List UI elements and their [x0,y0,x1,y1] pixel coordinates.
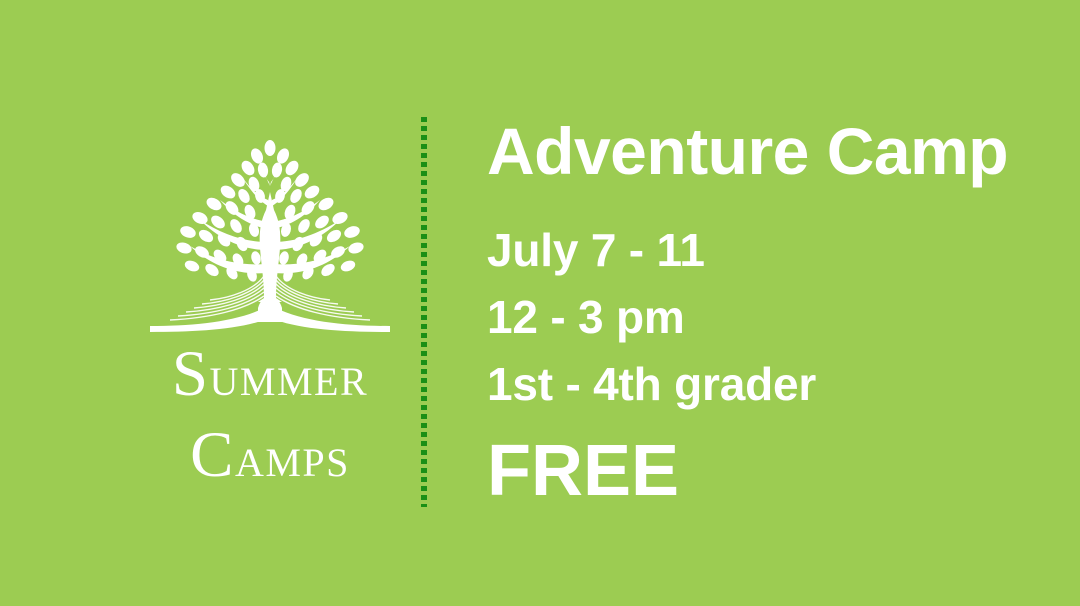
tree-on-book-icon [140,130,400,340]
event-grade-range: 1st - 4th grader [487,361,1047,407]
event-info-block: Adventure Camp July 7 - 11 12 - 3 pm 1st… [487,118,1047,507]
logo-camps-initial: C [190,419,235,491]
vertical-dotted-divider [421,117,427,507]
page-title: Adventure Camp [487,118,1047,184]
logo-word-camps: CAMPS [140,423,400,488]
logo-word-summer: SUMMER [140,342,400,407]
event-detail-list: July 7 - 11 12 - 3 pm 1st - 4th grader [487,227,1047,407]
event-price: FREE [487,435,1047,507]
summer-camp-poster: SUMMER CAMPS Adventure Camp July 7 - 11 … [0,0,1080,606]
logo-summer-initial: S [172,338,210,410]
logo-wordmark: SUMMER CAMPS [140,342,400,488]
event-dates: July 7 - 11 [487,227,1047,273]
summer-camps-logo: SUMMER CAMPS [140,130,400,475]
logo-summer-rest: UMMER [210,359,369,404]
event-time: 12 - 3 pm [487,294,1047,340]
logo-camps-rest: AMPS [235,440,350,485]
